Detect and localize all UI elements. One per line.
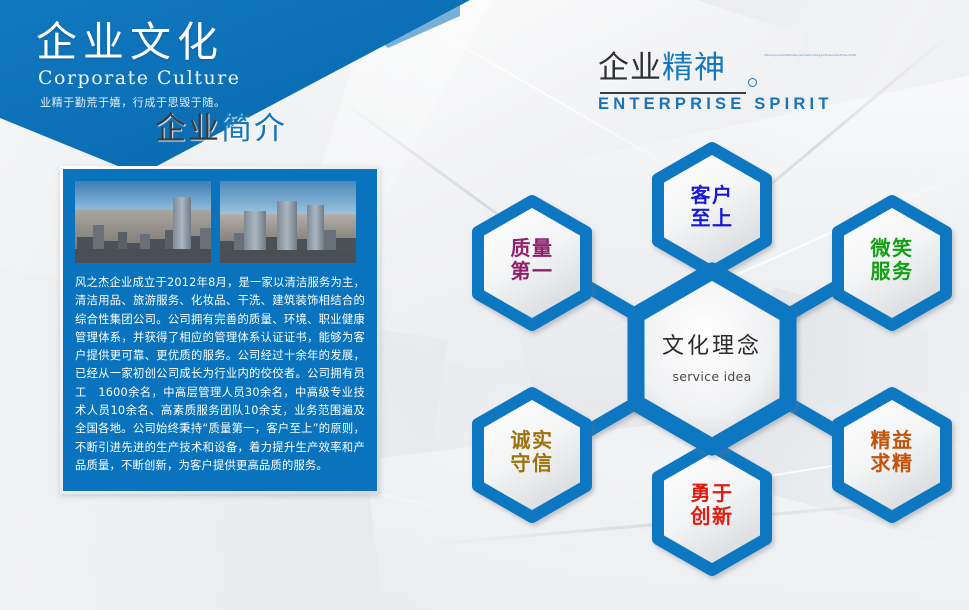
intro-heading-dark: 企业 — [155, 111, 221, 147]
center-label-en: service idea — [617, 369, 807, 384]
banner-title-cn: 企业文化 — [36, 18, 416, 66]
city-skyline-photo-1 — [75, 181, 211, 263]
banner-subtitle: 业精于勤荒于嬉，行成于思毁于随。 — [36, 94, 416, 110]
hexagon-node-bottom[interactable] — [658, 446, 766, 570]
hexagon-node-lower-right[interactable] — [838, 393, 946, 517]
spirit-heading-blue: 精神 — [662, 50, 726, 86]
hexagon-node-top[interactable] — [658, 148, 766, 272]
page-title-spirit: 企业精神 dfshdsyuiwwhtdsfkdwonsuhdwhuifsdgda… — [598, 52, 833, 114]
page-title-intro: 企业简介 — [155, 114, 287, 145]
intro-heading-blue: 简介 — [221, 111, 287, 147]
intro-card: 风之杰企业成立于2012年8月，是一家以清洁服务为主，清洁用品、旅游服务、化妆品… — [63, 169, 377, 491]
banner-title-en: Corporate Culture — [36, 67, 416, 89]
spirit-heading-dark: 企业 — [598, 50, 662, 86]
photo-strip — [75, 181, 365, 263]
circle-accent-icon — [748, 78, 757, 87]
spirit-underline — [600, 92, 746, 94]
intro-card-frame: 风之杰企业成立于2012年8月，是一家以清洁服务为主，清洁用品、旅游服务、化妆品… — [60, 166, 380, 494]
poster-canvas: 企业文化 Corporate Culture 业精于勤荒于嬉，行成于思毁于随。 … — [0, 0, 969, 610]
center-label-cn: 文化理念 — [617, 328, 807, 360]
banner-text-group: 企业文化 Corporate Culture 业精于勤荒于嬉，行成于思毁于随。 — [36, 18, 416, 110]
culture-hexagon-diagram: 客户 至上 微笑 服务 精益 求精 勇于 创新 诚实 守信 质量 第一 文化理念… — [455, 108, 969, 610]
hexagon-node-upper-left[interactable] — [478, 201, 586, 325]
hexagon-node-lower-left[interactable] — [478, 393, 586, 517]
hexagon-node-upper-right[interactable] — [838, 201, 946, 325]
intro-body-text: 风之杰企业成立于2012年8月，是一家以清洁服务为主，清洁用品、旅游服务、化妆品… — [75, 274, 365, 475]
spirit-heading-cn: 企业精神 dfshdsyuiwwhtdsfkdwonsuhdwhuifsdgda… — [598, 52, 833, 85]
decorative-micro-text: dfshdsyuiwwhtdsfkdwonsuhdwhuifsdgdadfnwn… — [764, 54, 856, 80]
hexagon-center-label: 文化理念 service idea — [617, 328, 807, 384]
city-skyline-photo-2 — [220, 181, 356, 263]
